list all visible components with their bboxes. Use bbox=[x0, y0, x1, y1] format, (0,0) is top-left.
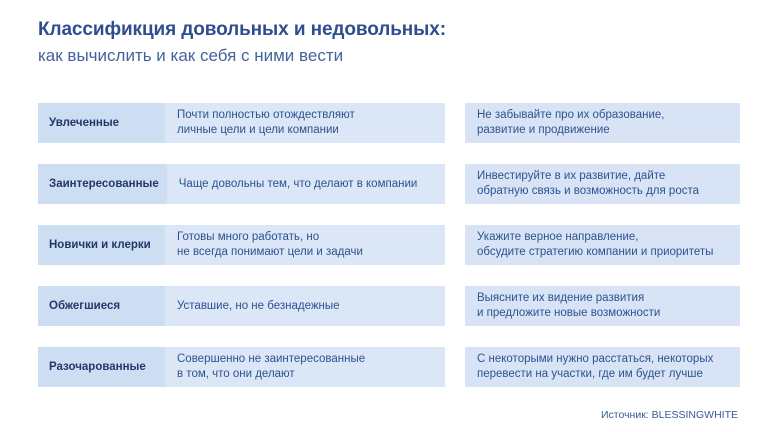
row-profile-group: УвлеченныеПочти полностью отождествляютл… bbox=[38, 103, 445, 143]
recommended-action-cell: Выясните их видение развитияи предложите… bbox=[465, 286, 740, 326]
recommended-action-line: перевести на участки, где им будет лучше bbox=[477, 367, 732, 382]
row-profile-group: Новички и клеркиГотовы много работать, н… bbox=[38, 225, 445, 265]
table-row: Новички и клеркиГотовы много работать, н… bbox=[0, 225, 768, 265]
recommended-action-line: обратную связь и возможность для роста bbox=[477, 184, 732, 199]
category-description-line: личные цели и цели компании bbox=[177, 123, 437, 138]
title-main-line: Классификция довольных и недовольных: bbox=[38, 18, 738, 42]
recommended-action-line: и предложите новые возможности bbox=[477, 306, 732, 321]
row-profile-group: ЗаинтересованныеЧаще довольны тем, что д… bbox=[38, 164, 445, 204]
recommended-action-line: Выясните их видение развития bbox=[477, 291, 732, 306]
category-description-cell: Совершенно не заинтересованныев том, что… bbox=[165, 347, 445, 387]
category-label-text: Заинтересованные bbox=[49, 177, 159, 191]
category-description-line: Готовы много работать, но bbox=[177, 230, 437, 245]
recommended-action-line: обсудите стратегию компании и приоритеты bbox=[477, 245, 732, 260]
category-description-line: Чаще довольны тем, что делают в компании bbox=[179, 177, 437, 192]
category-description-line: Уставшие, но не безнадежные bbox=[177, 299, 437, 314]
category-label-cell: Новички и клерки bbox=[38, 225, 165, 265]
source-credit: Источник: BLESSINGWHITE bbox=[601, 409, 738, 421]
recommended-action-line: С некоторыми нужно расстаться, некоторых bbox=[477, 352, 732, 367]
category-description-line: Почти полностью отождествляют bbox=[177, 108, 437, 123]
category-description-line: Совершенно не заинтересованные bbox=[177, 352, 437, 367]
recommended-action-cell: Инвестируйте в их развитие, дайтеобратну… bbox=[465, 164, 740, 204]
slide-canvas: Классификция довольных и недовольных: ка… bbox=[0, 0, 768, 432]
table-row: УвлеченныеПочти полностью отождествляютл… bbox=[0, 103, 768, 143]
category-label-cell: Разочарованные bbox=[38, 347, 165, 387]
recommended-action-cell: Не забывайте про их образование,развитие… bbox=[465, 103, 740, 143]
category-label-cell: Заинтересованные bbox=[38, 164, 167, 204]
category-description-cell: Почти полностью отождествляютличные цели… bbox=[165, 103, 445, 143]
recommended-action-cell: Укажите верное направление,обсудите стра… bbox=[465, 225, 740, 265]
category-description-line: в том, что они делают bbox=[177, 367, 437, 382]
table-row: РазочарованныеСовершенно не заинтересова… bbox=[0, 347, 768, 387]
recommended-action-line: развитие и продвижение bbox=[477, 123, 732, 138]
category-label-text: Разочарованные bbox=[49, 360, 146, 374]
category-label-text: Обжегшиеся bbox=[49, 299, 120, 313]
category-label-text: Увлеченные bbox=[49, 116, 119, 130]
category-description-cell: Уставшие, но не безнадежные bbox=[165, 286, 445, 326]
row-profile-group: РазочарованныеСовершенно не заинтересова… bbox=[38, 347, 445, 387]
category-description-cell: Готовы много работать, ноне всегда поним… bbox=[165, 225, 445, 265]
category-label-text: Новички и клерки bbox=[49, 238, 151, 252]
row-profile-group: ОбжегшиесяУставшие, но не безнадежные bbox=[38, 286, 445, 326]
recommended-action-line: Инвестируйте в их развитие, дайте bbox=[477, 169, 732, 184]
page-title: Классификция довольных и недовольных: ка… bbox=[38, 18, 738, 68]
recommended-action-cell: С некоторыми нужно расстаться, некоторых… bbox=[465, 347, 740, 387]
recommended-action-line: Укажите верное направление, bbox=[477, 230, 732, 245]
category-description-line: не всегда понимают цели и задачи bbox=[177, 245, 437, 260]
title-sub-line: как вычислить и как себя с ними вести bbox=[38, 44, 738, 68]
category-label-cell: Обжегшиеся bbox=[38, 286, 165, 326]
classification-table: УвлеченныеПочти полностью отождествляютл… bbox=[0, 103, 768, 387]
table-row: ОбжегшиесяУставшие, но не безнадежныеВыя… bbox=[0, 286, 768, 326]
table-row: ЗаинтересованныеЧаще довольны тем, что д… bbox=[0, 164, 768, 204]
category-description-cell: Чаще довольны тем, что делают в компании bbox=[167, 164, 445, 204]
category-label-cell: Увлеченные bbox=[38, 103, 165, 143]
recommended-action-line: Не забывайте про их образование, bbox=[477, 108, 732, 123]
